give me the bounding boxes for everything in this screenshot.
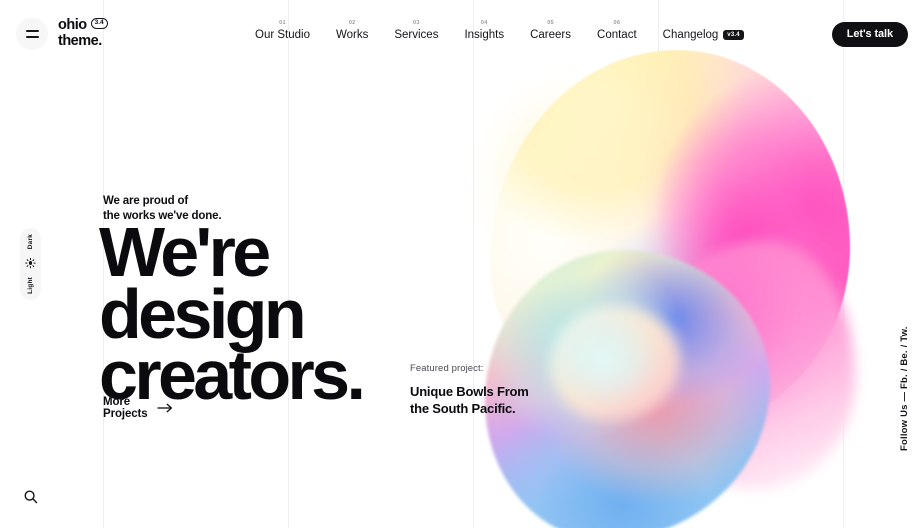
nav-label-careers: Careers: [530, 29, 571, 41]
nav-number-02: 02: [349, 20, 356, 26]
theme-toggle[interactable]: Dark Light: [20, 228, 41, 300]
grid-line-3: [473, 0, 474, 528]
theme-toggle-dark-label[interactable]: Dark: [27, 234, 34, 249]
grid-line-5: [843, 0, 844, 528]
brand-logo[interactable]: ohio 3.4 theme.: [58, 17, 108, 49]
brand-name-line1: ohio: [58, 17, 87, 33]
nav-label-services: Services: [394, 29, 438, 41]
sun-icon: [26, 259, 35, 268]
nav-label-our-studio: Our Studio: [255, 29, 310, 41]
nav-item-services[interactable]: 03 Services: [394, 20, 438, 41]
page-root: ohio 3.4 theme. 01 Our Studio 02 Works 0…: [0, 0, 924, 528]
nav-label-contact: Contact: [597, 29, 637, 41]
brand-version-badge: 3.4: [91, 18, 108, 29]
nav-item-our-studio[interactable]: 01 Our Studio: [255, 20, 310, 41]
nav-number-01: 01: [279, 20, 286, 26]
main-navigation: 01 Our Studio 02 Works 03 Services 04 In…: [255, 20, 744, 41]
featured-project-title: Unique Bowls From the South Pacific.: [410, 383, 529, 418]
nav-number-03: 03: [413, 20, 420, 26]
blob-yellow-glow: [460, 70, 690, 320]
nav-number-04: 04: [481, 20, 488, 26]
featured-project-title-line-1: Unique Bowls From: [410, 383, 529, 400]
blob-lower-right: [640, 240, 855, 490]
nav-label-insights: Insights: [464, 29, 504, 41]
more-projects-label: More Projects: [103, 396, 148, 420]
nav-item-works[interactable]: 02 Works: [336, 20, 368, 41]
nav-item-insights[interactable]: 04 Insights: [464, 20, 504, 41]
hamburger-icon[interactable]: [16, 18, 48, 50]
arrow-right-icon: [157, 403, 173, 413]
site-header: ohio 3.4 theme. 01 Our Studio 02 Works 0…: [0, 0, 924, 66]
featured-project-title-line-2: the South Pacific.: [410, 400, 529, 417]
hero-gradient-artwork: [430, 50, 830, 520]
featured-project[interactable]: Featured project: Unique Bowls From the …: [410, 363, 529, 418]
nav-label-works: Works: [336, 29, 368, 41]
brand-logo-row-1: ohio 3.4: [58, 17, 108, 33]
grid-line-4: [658, 0, 659, 528]
blob-main-shape: [490, 50, 850, 430]
featured-project-label: Featured project:: [410, 363, 529, 374]
hero-kicker-line-1: We are proud of: [103, 194, 221, 209]
lets-talk-button[interactable]: Let's talk: [832, 22, 908, 47]
nav-item-careers[interactable]: 05 Careers: [530, 20, 571, 41]
follow-us-rail[interactable]: Follow Us — Fb. / Be. / Tw.: [899, 326, 910, 451]
hamburger-line-top: [26, 30, 39, 32]
search-icon[interactable]: [20, 486, 42, 508]
theme-toggle-light-label[interactable]: Light: [27, 277, 34, 294]
more-projects-link[interactable]: More Projects: [103, 396, 173, 420]
nav-label-changelog: Changelog: [663, 29, 719, 41]
blob-pink-halo: [645, 95, 855, 425]
nav-item-contact[interactable]: 06 Contact: [597, 20, 637, 41]
changelog-version-badge: v3.4: [723, 30, 743, 40]
page-title: We're design creators.: [99, 222, 362, 407]
nav-item-changelog[interactable]: Changelog v3.4: [663, 20, 744, 41]
nav-number-05: 05: [547, 20, 554, 26]
brand-name-line2: theme.: [58, 33, 108, 49]
nav-number-06: 06: [613, 20, 620, 26]
hamburger-line-bottom: [26, 36, 39, 38]
blob-inner-core: [550, 305, 680, 420]
